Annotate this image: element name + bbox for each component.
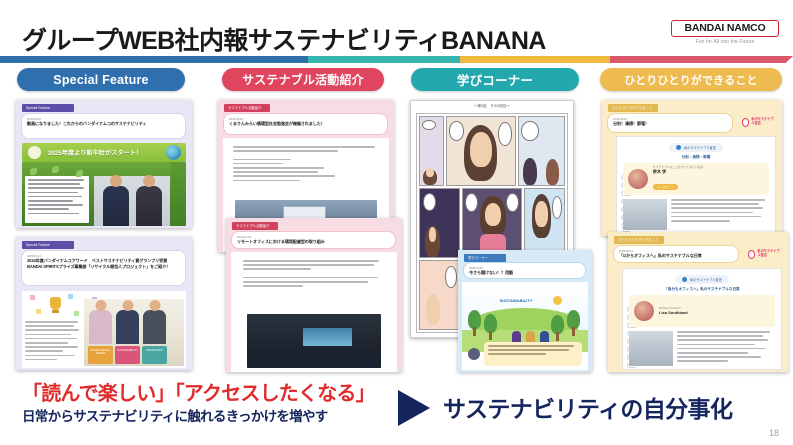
- person-figure: [103, 186, 129, 226]
- card-headline: 「ızからオフィスへ」私のサステナブルな日常: [619, 253, 733, 259]
- profile-name: Lisa Southland: [659, 310, 770, 316]
- arrow-right-icon: [398, 390, 430, 426]
- column-header-learning-corner: 学びコーナー: [411, 68, 579, 91]
- card-bubble: 2025/03/14 2024年度バンダイナムコアワード ベストサステナビリティ…: [21, 250, 186, 286]
- card-tag: 学びコーナー: [464, 254, 506, 262]
- column-header-what-each-can-do: ひとりひとりができること: [600, 68, 782, 91]
- banner-result: サステナビリティの自分事化: [443, 390, 732, 424]
- person-figure: [136, 186, 162, 226]
- card-bubble: 2025/01/10 今さら聞けない！？用語: [463, 262, 586, 279]
- profile-button[interactable]: インタビュー: [653, 184, 678, 190]
- trophy-icon: [50, 297, 61, 310]
- green-banner-text: 2025年度より新中計がスタート！: [48, 148, 142, 157]
- avatar: [634, 301, 654, 321]
- article-text-block: [243, 260, 385, 289]
- brand-badge: 私のサステナブル宣言: [748, 247, 782, 261]
- notebook-body: [629, 331, 775, 366]
- notebook-page: 私のサステナブル宣言 分別・清掃・節電 サステナブルなことをやってみたい社員 鈴…: [616, 136, 776, 234]
- banner-quote: 「読んで楽しい」「アクセスしたくなる」: [22, 382, 375, 407]
- green-banner: 2025年度より新中計がスタート！: [22, 143, 186, 162]
- card-special-feature-1[interactable]: Special Feature 2025/04/01 動画になりました！これから…: [16, 100, 192, 228]
- brand-badge-text: 私のサステナブル宣言: [757, 250, 782, 257]
- tree-icon: [484, 314, 497, 340]
- manga-panel: [518, 116, 565, 186]
- brand-dot-icon: [742, 118, 749, 127]
- interview-photo: [94, 176, 170, 226]
- notebook-chip: 私のサステナブル宣言: [675, 275, 729, 284]
- globe-icon: [166, 145, 181, 160]
- bottom-banner: 「読んで楽しい」「アクセスしたくなる」 日常からサステナビリティに触れるきっかけ…: [0, 380, 793, 445]
- plant-decor: [30, 168, 37, 175]
- card-bubble: 2025/03/05 分別！清掃！節電！: [607, 113, 733, 133]
- article-sheet: [231, 252, 397, 372]
- card-learning-illustration[interactable]: 学びコーナー 2025/01/10 今さら聞けない！？用語 SUSTAINABI…: [458, 250, 592, 372]
- card-bubble: 2025/04/01 動画になりました！これからのバンダイナムコのサステナビリテ…: [21, 113, 186, 139]
- column-header-sustainable-activities: サステナブル活動紹介: [222, 68, 384, 91]
- profile-meta: BANDAI NAMCO Lisa Southland: [659, 306, 770, 317]
- chip-dot-icon: [682, 277, 687, 282]
- award-plaque: SUSTAINABILITY: [115, 346, 140, 364]
- manga-row: [419, 188, 565, 258]
- card-bubble: 2025/02/20 くるりんみらい循環型社会勉強会が開催されました！: [223, 113, 388, 135]
- card-headline: リモートオフィスにおける環境配慮型の取り組み: [237, 239, 390, 245]
- brand-badge: 私のサステナブル宣言: [742, 115, 776, 129]
- logo-frame: BANDAI NAMCO: [671, 20, 779, 37]
- article-text-block: [25, 176, 89, 223]
- card-tag: Special Feature: [22, 241, 74, 249]
- card-stack-sustainable-activities: サステナブル活動紹介 2025/02/20 くるりんみらい循環型社会勉強会が開催…: [212, 100, 398, 372]
- page-number: 18: [769, 428, 779, 438]
- illustration-title: SUSTAINABILITY: [486, 298, 546, 312]
- brand-dot-icon: [748, 250, 755, 259]
- person-figure: [89, 310, 112, 344]
- column-special-feature: Special Feature Special Feature 2025/04/…: [8, 68, 204, 378]
- card-personal-1[interactable]: ひとりひとりができること 2025/03/05 分別！清掃！節電！ 私のサステナ…: [602, 100, 782, 236]
- speech-note: [484, 342, 582, 366]
- rule-segment-gold: [460, 56, 610, 63]
- chip-dot-icon: [676, 145, 681, 150]
- card-tag: サステナブル活動紹介: [232, 222, 278, 230]
- notebook-subtitle: 「自分もオフィスへ」私のサステナブルな日常: [623, 287, 781, 292]
- rule-segment-blue: [0, 56, 308, 63]
- column-sustainable-activities: サステナブル活動紹介 サステナブル活動紹介 2025/02/20 くるりんみらい…: [212, 68, 398, 378]
- column-header-special-feature: Special Feature: [17, 68, 185, 91]
- article-photo: [629, 331, 673, 366]
- illustration-scene: SUSTAINABILITY: [462, 282, 588, 370]
- manga-row: [419, 116, 565, 186]
- chip-label: 私のサステナブル宣言: [690, 277, 722, 282]
- notebook-chip: 私のサステナブル宣言: [669, 143, 723, 152]
- chip-label: 私のサステナブル宣言: [684, 145, 716, 150]
- card-headline: くるりんみらい循環型社会勉強会が開催されました！: [229, 121, 382, 127]
- tree-icon: [468, 310, 481, 336]
- person-figure: [116, 310, 139, 344]
- card-bubble: 2025/02/12 「ızからオフィスへ」私のサステナブルな日常: [613, 245, 739, 263]
- manga-panel: [419, 116, 444, 186]
- card-tag: Special Feature: [22, 104, 74, 112]
- avatar: [628, 169, 648, 189]
- article-text-block: [233, 146, 379, 184]
- manga-panel: [524, 188, 565, 258]
- card-stack-learning-corner: 〜第2話 その2回目〜: [402, 100, 592, 372]
- award-ceremony-photo: BANDAI NAMCO AWARD SUSTAINABILITY GRAND …: [84, 299, 184, 366]
- bandai-namco-logo: BANDAI NAMCO Fun for All into the Future: [671, 20, 779, 45]
- rule-segment-red: [610, 56, 793, 63]
- card-special-feature-2[interactable]: Special Feature 2025/03/14 2024年度バンダイナムコ…: [16, 237, 192, 370]
- slide: グループWEB社内報サステナビリティBANANA BANDAI NAMCO Fu…: [0, 0, 793, 445]
- banner-subtitle: 日常からサステナビリティに触れるきっかけを増やす: [22, 408, 375, 426]
- article-photo: [623, 199, 667, 230]
- manga-panel: [419, 260, 460, 330]
- leaf-icon: [28, 146, 41, 159]
- video-still: [22, 162, 186, 226]
- slide-header: グループWEB社内報サステナビリティBANANA BANDAI NAMCO Fu…: [0, 0, 793, 66]
- card-sustainable-2[interactable]: サステナブル活動紹介 2025/01/28 リモートオフィスにおける環境配慮型の…: [226, 218, 402, 372]
- stage-screen: [303, 328, 351, 346]
- tree-icon: [551, 315, 564, 341]
- award-article: BANDAI NAMCO AWARD SUSTAINABILITY GRAND …: [22, 291, 186, 368]
- manga-caption: 〜第2話 その2回目〜: [411, 101, 573, 112]
- award-plaque: GRAND PRIX: [142, 346, 167, 364]
- logo-text: BANDAI NAMCO: [676, 23, 774, 34]
- notebook-page: 私のサステナブル宣言 「自分もオフィスへ」私のサステナブルな日常 BANDAI …: [622, 268, 782, 370]
- avatar: [468, 348, 480, 360]
- card-bubble: 2025/01/28 リモートオフィスにおける環境配慮型の取り組み: [231, 231, 396, 249]
- column-learning-corner: 学びコーナー 〜第2話 その2回目〜: [402, 68, 592, 378]
- scene-side-strip: [171, 162, 186, 226]
- manga-panel: [462, 188, 522, 258]
- column-what-each-can-do: ひとりひとりができること ひとりひとりができること 2025/03/05 分別！…: [596, 68, 788, 378]
- logo-tagline: Fun for All into the Future: [671, 39, 779, 45]
- rule-segment-teal: [308, 56, 460, 63]
- card-headline: 今さら聞けない！？用語: [469, 270, 580, 276]
- manga-panel: [446, 116, 516, 186]
- plant-decor: [76, 170, 83, 177]
- card-tag: サステナブル活動紹介: [224, 104, 270, 112]
- audience-row: [247, 354, 381, 368]
- card-stack-special-feature: Special Feature 2025/04/01 動画になりました！これから…: [8, 100, 204, 372]
- card-tag: ひとりひとりができること: [608, 104, 658, 112]
- card-personal-2[interactable]: ひとりひとりができること 2025/02/12 「ızからオフィスへ」私のサステ…: [608, 232, 788, 372]
- article-text-block: [677, 331, 775, 366]
- brand-badge-text: 私のサステナブル宣言: [751, 118, 776, 125]
- banner-left: 「読んで楽しい」「アクセスしたくなる」 日常からサステナビリティに触れるきっかけ…: [22, 382, 375, 426]
- card-headline: 分別！清掃！節電！: [613, 121, 727, 127]
- tree-icon: [567, 310, 580, 336]
- article-text-block: [25, 319, 81, 365]
- content-columns: Special Feature Special Feature 2025/04/…: [0, 68, 793, 378]
- manga-panel: [419, 188, 460, 258]
- notebook-subtitle: 分別・清掃・節電: [617, 155, 775, 160]
- card-headline: 2024年度バンダイナムコアワード ベストサステナビリティ賞グランプリ受賞BAN…: [27, 258, 180, 270]
- profile-block: BANDAI NAMCO Lisa Southland: [629, 295, 775, 327]
- profile-meta: サステナブルなことをやってみたい社員 鈴木 学 インタビュー: [653, 165, 764, 194]
- plant-decor: [52, 166, 59, 173]
- card-stack-what-each-can-do: ひとりひとりができること 2025/03/05 分別！清掃！節電！ 私のサステナ…: [596, 100, 788, 372]
- card-headline: 動画になりました！これからのバンダイナムコのサステナビリティ: [27, 121, 180, 127]
- card-tag: ひとりひとりができること: [614, 236, 664, 244]
- event-photo: [247, 314, 381, 368]
- page-title: グループWEB社内報サステナビリティBANANA: [22, 21, 546, 57]
- profile-block: サステナブルなことをやってみたい社員 鈴木 学 インタビュー: [623, 163, 769, 195]
- article-text-block: [671, 199, 769, 230]
- profile-name: 鈴木 学: [653, 169, 764, 175]
- award-plaque: BANDAI NAMCO AWARD: [88, 346, 113, 364]
- sun-icon: [553, 296, 562, 305]
- notebook-body: [623, 199, 769, 230]
- person-figure: [143, 310, 166, 344]
